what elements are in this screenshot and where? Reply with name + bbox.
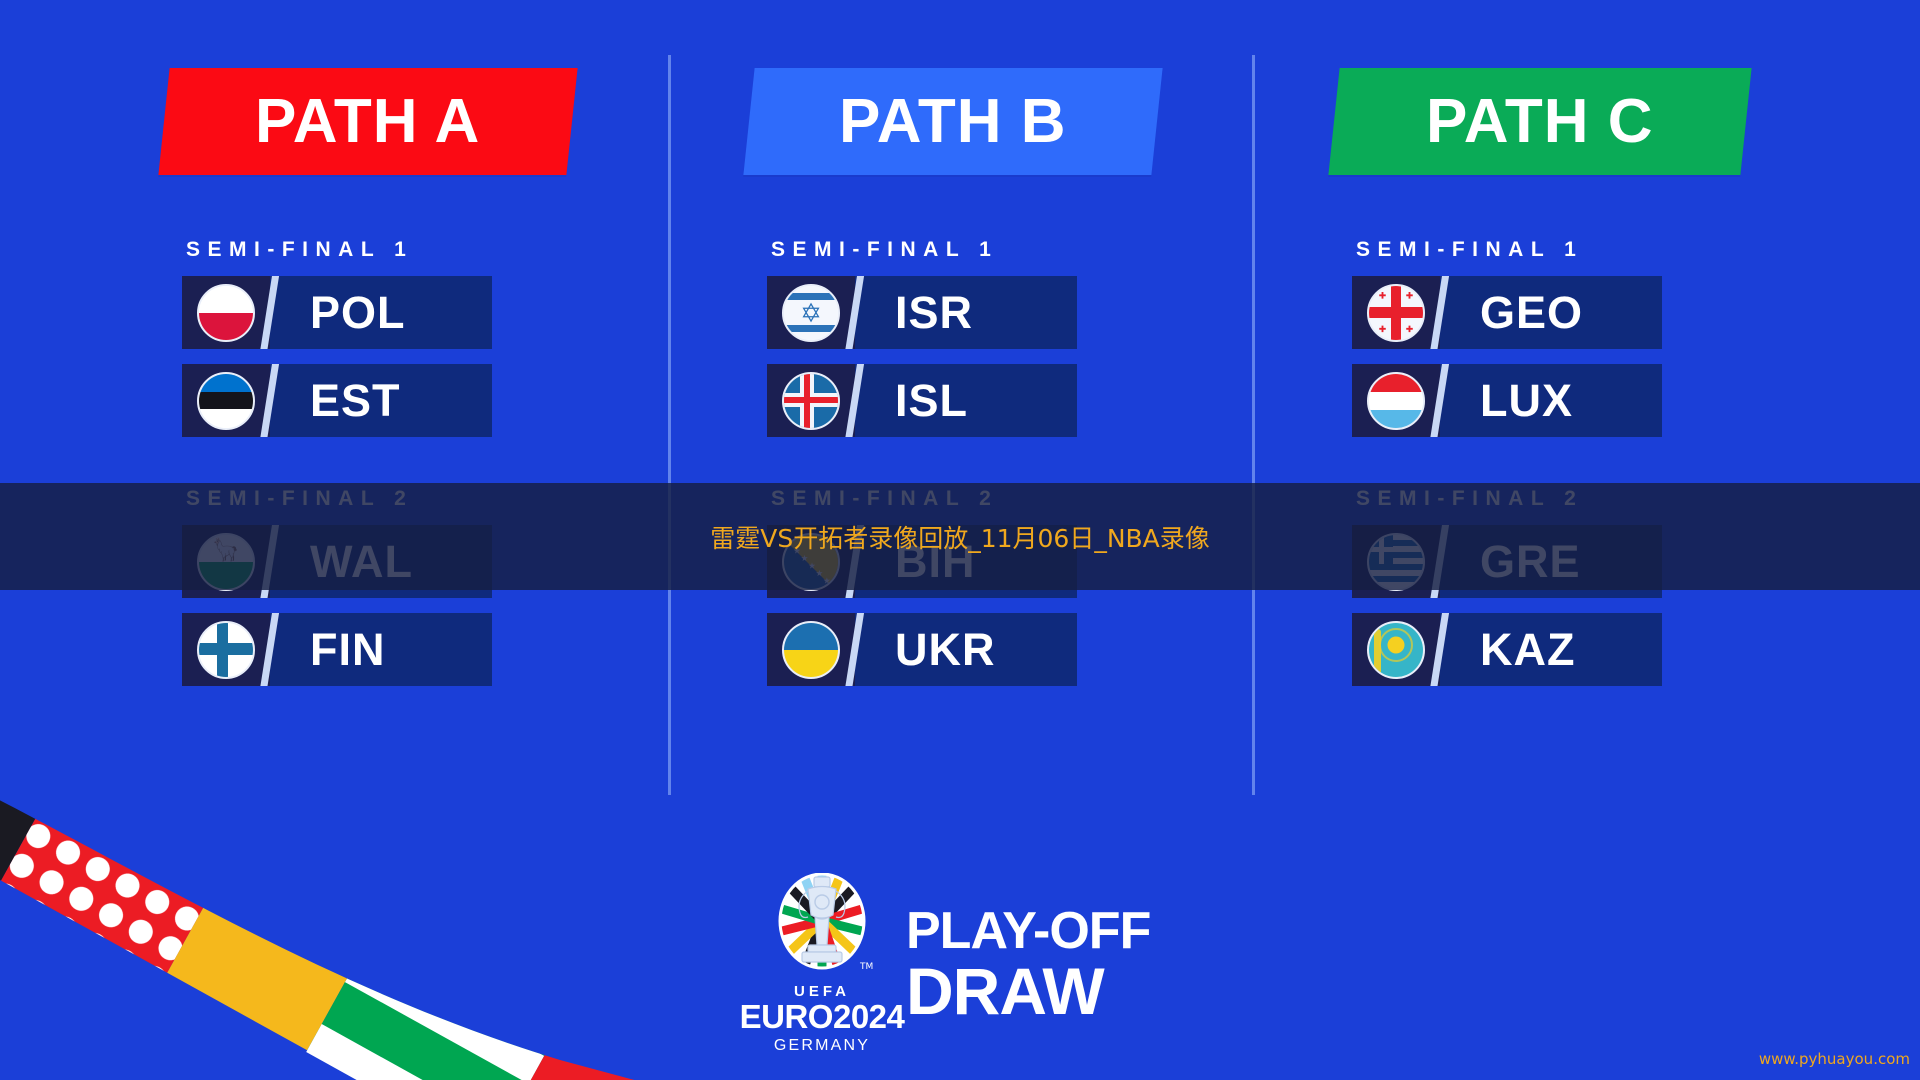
kazakhstan-flag <box>1367 621 1425 679</box>
team-code: EST <box>310 378 401 423</box>
star-of-david-icon: ✡ <box>800 300 822 326</box>
ukraine-flag <box>782 621 840 679</box>
euro-2024-logo-block: TM UEFA EURO2024 GERMANY PLAY-OFF DRAW <box>766 873 1150 1055</box>
watermark-overlay-band: 雷霆VS开拓者录像回放_11月06日_NBA录像 <box>0 483 1920 590</box>
flag-cell <box>182 613 270 686</box>
trademark-symbol: TM <box>859 962 873 972</box>
path-a-semifinal-1-label: SEMI-FINAL 1 <box>186 238 620 262</box>
headline-line-2: DRAW <box>906 958 1150 1024</box>
flag-cell <box>1352 276 1440 349</box>
henri-delaunay-trophy-icon: TM <box>770 873 874 977</box>
team-code: LUX <box>1480 378 1573 423</box>
small-crosses-icon <box>1369 286 1423 340</box>
estonia-flag <box>197 372 255 430</box>
team-row[interactable]: EST <box>182 364 492 437</box>
flag-cell: ✡ <box>767 276 855 349</box>
team-row[interactable]: ISL <box>767 364 1077 437</box>
team-row[interactable]: KAZ <box>1352 613 1662 686</box>
team-row[interactable]: LUX <box>1352 364 1662 437</box>
path-column-c: PATH C SEMI-FINAL 1 GEO <box>1330 68 1790 701</box>
flag-cell <box>767 613 855 686</box>
path-b-banner: PATH B <box>743 68 1162 175</box>
path-c-banner: PATH C <box>1328 68 1751 175</box>
team-code: ISR <box>895 290 973 335</box>
watermark-title: 雷霆VS开拓者录像回放_11月06日_NBA录像 <box>710 519 1210 555</box>
team-row[interactable]: ✡ ISR <box>767 276 1077 349</box>
flag-cell <box>182 364 270 437</box>
team-row[interactable]: UKR <box>767 613 1077 686</box>
flag-cell <box>1352 364 1440 437</box>
euro-2024-logo: TM UEFA EURO2024 GERMANY <box>766 873 878 1055</box>
finland-flag <box>197 621 255 679</box>
path-c-semifinal-1-label: SEMI-FINAL 1 <box>1356 238 1790 262</box>
georgia-flag <box>1367 284 1425 342</box>
path-a-title: PATH A <box>255 86 480 157</box>
path-a-banner: PATH A <box>158 68 577 175</box>
team-row[interactable]: FIN <box>182 613 492 686</box>
israel-flag: ✡ <box>782 284 840 342</box>
path-c-title: PATH C <box>1426 86 1654 157</box>
euro-2024-label: EURO2024 <box>740 1000 905 1035</box>
poland-flag <box>197 284 255 342</box>
team-code: KAZ <box>1480 627 1575 672</box>
flag-cell <box>182 276 270 349</box>
team-row[interactable]: GEO <box>1352 276 1662 349</box>
path-b-semifinal-1-label: SEMI-FINAL 1 <box>771 238 1205 262</box>
headline-line-1: PLAY-OFF <box>906 904 1150 959</box>
iceland-flag <box>782 372 840 430</box>
flag-cell <box>1352 613 1440 686</box>
path-column-b: PATH B SEMI-FINAL 1 ✡ ISR ISL <box>745 68 1205 701</box>
headline: PLAY-OFF DRAW <box>906 904 1150 1025</box>
germany-label: GERMANY <box>774 1037 870 1055</box>
team-code: FIN <box>310 627 386 672</box>
team-row[interactable]: POL <box>182 276 492 349</box>
team-code: ISL <box>895 378 968 423</box>
team-code: GEO <box>1480 290 1583 335</box>
team-code: POL <box>310 290 406 335</box>
team-code: UKR <box>895 627 996 672</box>
path-b-title: PATH B <box>839 86 1067 157</box>
path-column-a: PATH A SEMI-FINAL 1 POL EST SEMI-FINAL 2 <box>160 68 620 701</box>
luxembourg-flag <box>1367 372 1425 430</box>
flag-cell <box>767 364 855 437</box>
